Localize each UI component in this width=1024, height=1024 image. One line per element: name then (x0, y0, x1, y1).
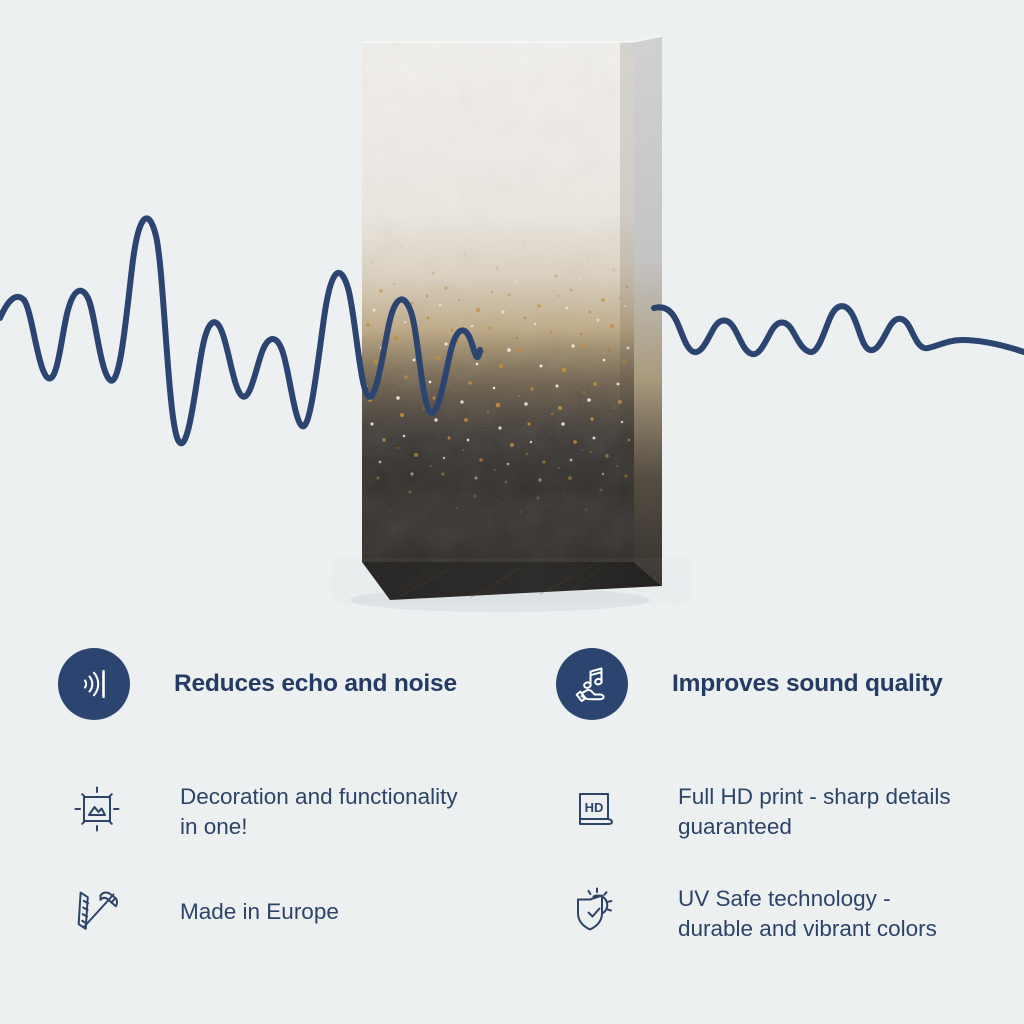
feature-label: Improves sound quality (672, 648, 943, 699)
feature-label-line1: Full HD print - sharp details (678, 782, 951, 812)
infographic-stage: Reduces echo and noise Improves sound qu… (0, 0, 1024, 1024)
feature-icon-wrap (66, 778, 128, 840)
feature-label-line1: Decoration and functionality (180, 782, 458, 812)
feature-icon-wrap (564, 880, 626, 942)
feature-uv-safe[interactable]: UV Safe technology - durable and vibrant… (556, 880, 937, 943)
soundwave-graphic (0, 0, 1024, 660)
feature-badge-circle (556, 648, 628, 720)
framed-picture-shine-icon (69, 781, 125, 837)
feature-list: Reduces echo and noise Improves sound qu… (0, 628, 1024, 1024)
feature-label: UV Safe technology - durable and vibrant… (678, 880, 937, 943)
feature-icon-wrap (66, 880, 128, 942)
feature-icon-wrap: HD (564, 778, 626, 840)
ruler-hammer-icon (69, 883, 125, 939)
hd-canvas-icon: HD (567, 781, 623, 837)
shield-sun-check-icon (567, 883, 623, 939)
hand-music-note-icon (569, 661, 615, 707)
feature-label-line1: UV Safe technology - (678, 884, 937, 914)
feature-decoration-functionality[interactable]: Decoration and functionality in one! (58, 778, 458, 841)
hd-icon-text: HD (585, 800, 604, 815)
feature-reduces-echo[interactable]: Reduces echo and noise (58, 648, 457, 720)
feature-label-line2: guaranteed (678, 812, 951, 842)
sound-waves-barrier-icon (72, 662, 116, 706)
feature-label: Full HD print - sharp details guaranteed (678, 778, 951, 841)
feature-label: Reduces echo and noise (174, 648, 457, 699)
soundwave-right-path (654, 306, 1024, 354)
feature-badge-circle (58, 648, 130, 720)
soundwave-left-path (0, 218, 480, 443)
feature-improves-sound[interactable]: Improves sound quality (556, 648, 943, 720)
feature-label-line2: durable and vibrant colors (678, 914, 937, 944)
feature-label: Decoration and functionality in one! (180, 778, 458, 841)
feature-label: Made in Europe (180, 880, 339, 927)
feature-label-line2: in one! (180, 812, 458, 842)
feature-made-in-europe[interactable]: Made in Europe (58, 880, 339, 942)
feature-full-hd-print[interactable]: HD Full HD print - sharp details guarant… (556, 778, 951, 841)
